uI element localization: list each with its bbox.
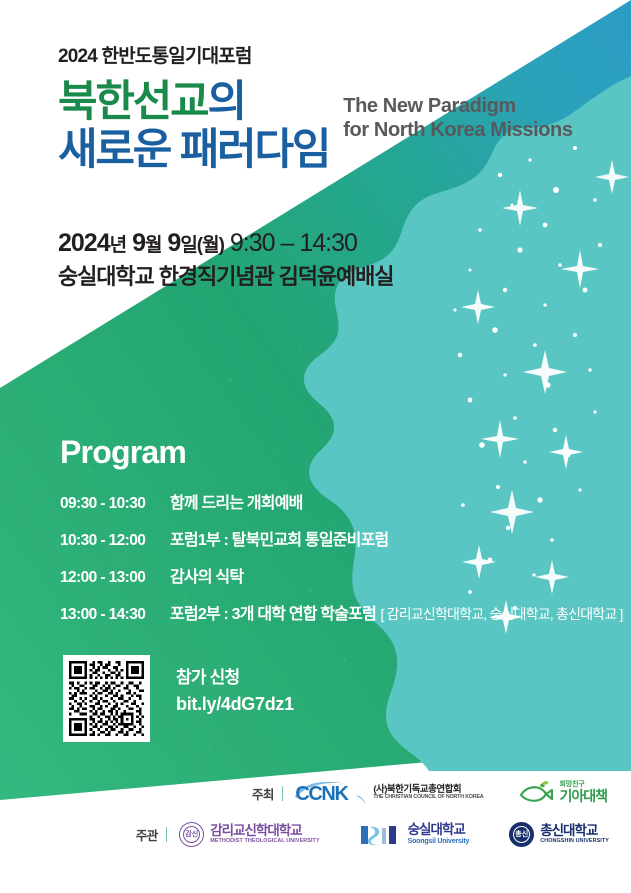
ccnk-wordmark: CCNK [295,783,347,806]
organizer-label: 주관 [136,825,158,844]
host-label-group: 주최 [252,784,283,803]
mtu-name-en: METHODIST THEOLOGICAL UNIVERSITY [210,839,319,845]
program-item-time: 09:30 - 10:30 [60,495,170,513]
kia-name-block: 희망친구 기아대책 [559,781,607,804]
program-item-time: 13:00 - 14:30 [60,606,170,624]
program-section: Program 09:30 - 10:30 함께 드리는 개회예배 10:30 … [60,434,623,637]
ssu-name-en: Soongsil University [408,838,470,846]
logo-ssu: 숭실대학교 Soongsil University [360,823,470,845]
csu-name-block: 총신대학교 CHONGSHIN UNIVERSITY [540,824,609,844]
kia-name-ko: 기아대책 [559,789,607,804]
organizer-label-group: 주관 [136,825,167,844]
logo-csu: 총신 총신대학교 CHONGSHIN UNIVERSITY [509,822,609,847]
soongsil-mark-icon [360,824,402,846]
organizer-row: 주관 감신 감리교신학대학교 METHODIST THEOLOGICAL UNI… [136,822,609,847]
registration-block: 참가 신청 bit.ly/4dG7dz1 [63,655,294,742]
csu-name-ko: 총신대학교 [540,824,609,839]
program-item: 13:00 - 14:30 포럼2부 : 3개 대학 연합 학술포럼 [ 감리교… [60,600,623,624]
host-divider [282,786,284,801]
date-month-unit: 월 [145,235,161,256]
host-row: 주최 CCNK (사)북한기독교총연합회 THE CHRISTIAN COUNC… [252,780,607,806]
ccnk-name-en: THE CHRISTIAN COUNCIL OF NORTH KOREA [373,795,483,800]
date-year-unit: 년 [110,235,126,256]
date-day-unit: 일(월) [180,235,224,256]
title-row: 북한선교의 새로운 패러다임 The New Paradigm for Nort… [58,81,578,171]
registration-url[interactable]: bit.ly/4dG7dz1 [176,691,294,718]
ccnk-logo-icon: CCNK [293,780,367,806]
date-day: 9 [167,229,180,257]
csu-seal-text: 총신 [513,826,530,843]
program-item-sub: [ 감리교신학대학교, 숭실대학교, 총신대학교 ] [380,606,622,622]
title-english: The New Paradigm for North Korea Mission… [343,94,572,143]
fish-sprout-icon [519,781,553,805]
title-english-line2: for North Korea Missions [343,118,572,142]
date-month: 9 [132,229,145,257]
qr-code-graphic [69,661,144,736]
logo-kia: 희망친구 기아대책 [519,781,607,805]
event-date: 2024년 9월 9일(월) 9:30 – 14:30 [58,228,393,260]
program-list: 09:30 - 10:30 함께 드리는 개회예배 10:30 - 12:00 … [60,489,623,624]
csu-seal-icon: 총신 [509,822,534,847]
program-heading: Program [60,434,623,471]
mtu-name-block: 감리교신학대학교 METHODIST THEOLOGICAL UNIVERSIT… [210,824,319,844]
program-item-desc: 감사의 식탁 [170,563,243,587]
logo-ccnk: CCNK (사)북한기독교총연합회 THE CHRISTIAN COUNCIL … [293,780,483,806]
program-item: 12:00 - 13:00 감사의 식탁 [60,563,623,587]
event-poster: 2024 한반도통일기대포럼 북한선교의 새로운 패러다임 The New Pa… [0,0,631,893]
mtu-name-ko: 감리교신학대학교 [210,824,319,839]
program-item: 09:30 - 10:30 함께 드리는 개회예배 [60,489,623,513]
registration-label: 참가 신청 [176,665,294,691]
date-year: 2024 [58,229,110,257]
organizer-divider [166,827,168,842]
ccnk-name-block: (사)북한기독교총연합회 THE CHRISTIAN COUNCIL OF NO… [373,785,483,800]
ssu-name-block: 숭실대학교 Soongsil University [408,823,470,845]
registration-text: 참가 신청 bit.ly/4dG7dz1 [176,655,294,718]
mtu-seal-text: 감신 [183,826,200,843]
title-korean-line1: 북한선교의 [58,81,329,123]
logo-mtu: 감신 감리교신학대학교 METHODIST THEOLOGICAL UNIVER… [179,822,319,847]
title-korean-line2: 새로운 패러다임 [58,129,329,171]
program-item-desc: 포럼2부 : 3개 대학 연합 학술포럼 [170,606,376,623]
event-venue: 숭실대학교 한경직기념관 김덕윤예배실 [58,263,393,292]
program-item-desc: 포럼1부 : 탈북민교회 통일준비포럼 [170,526,388,550]
program-item-time: 12:00 - 13:00 [60,569,170,587]
program-item: 10:30 - 12:00 포럼1부 : 탈북민교회 통일준비포럼 [60,526,623,550]
title-korean: 북한선교의 새로운 패러다임 [58,81,329,171]
csu-name-en: CHONGSHIN UNIVERSITY [540,839,609,845]
event-meta: 2024년 9월 9일(월) 9:30 – 14:30 숭실대학교 한경직기념관… [58,228,393,291]
title-english-line1: The New Paradigm [343,94,572,118]
forum-kicker: 2024 한반도통일기대포럼 [58,46,578,69]
qr-code-icon[interactable] [63,655,150,742]
poster-header: 2024 한반도통일기대포럼 북한선교의 새로운 패러다임 The New Pa… [58,46,578,171]
host-label: 주최 [252,784,274,803]
program-item-desc: 함께 드리는 개회예배 [170,489,303,513]
date-time: 9:30 – 14:30 [230,229,357,257]
program-item-body: 포럼2부 : 3개 대학 연합 학술포럼 [ 감리교신학대학교, 숭실대학교, … [170,600,623,624]
program-item-time: 10:30 - 12:00 [60,532,170,550]
ssu-name-ko: 숭실대학교 [408,823,470,838]
mtu-seal-icon: 감신 [179,822,204,847]
